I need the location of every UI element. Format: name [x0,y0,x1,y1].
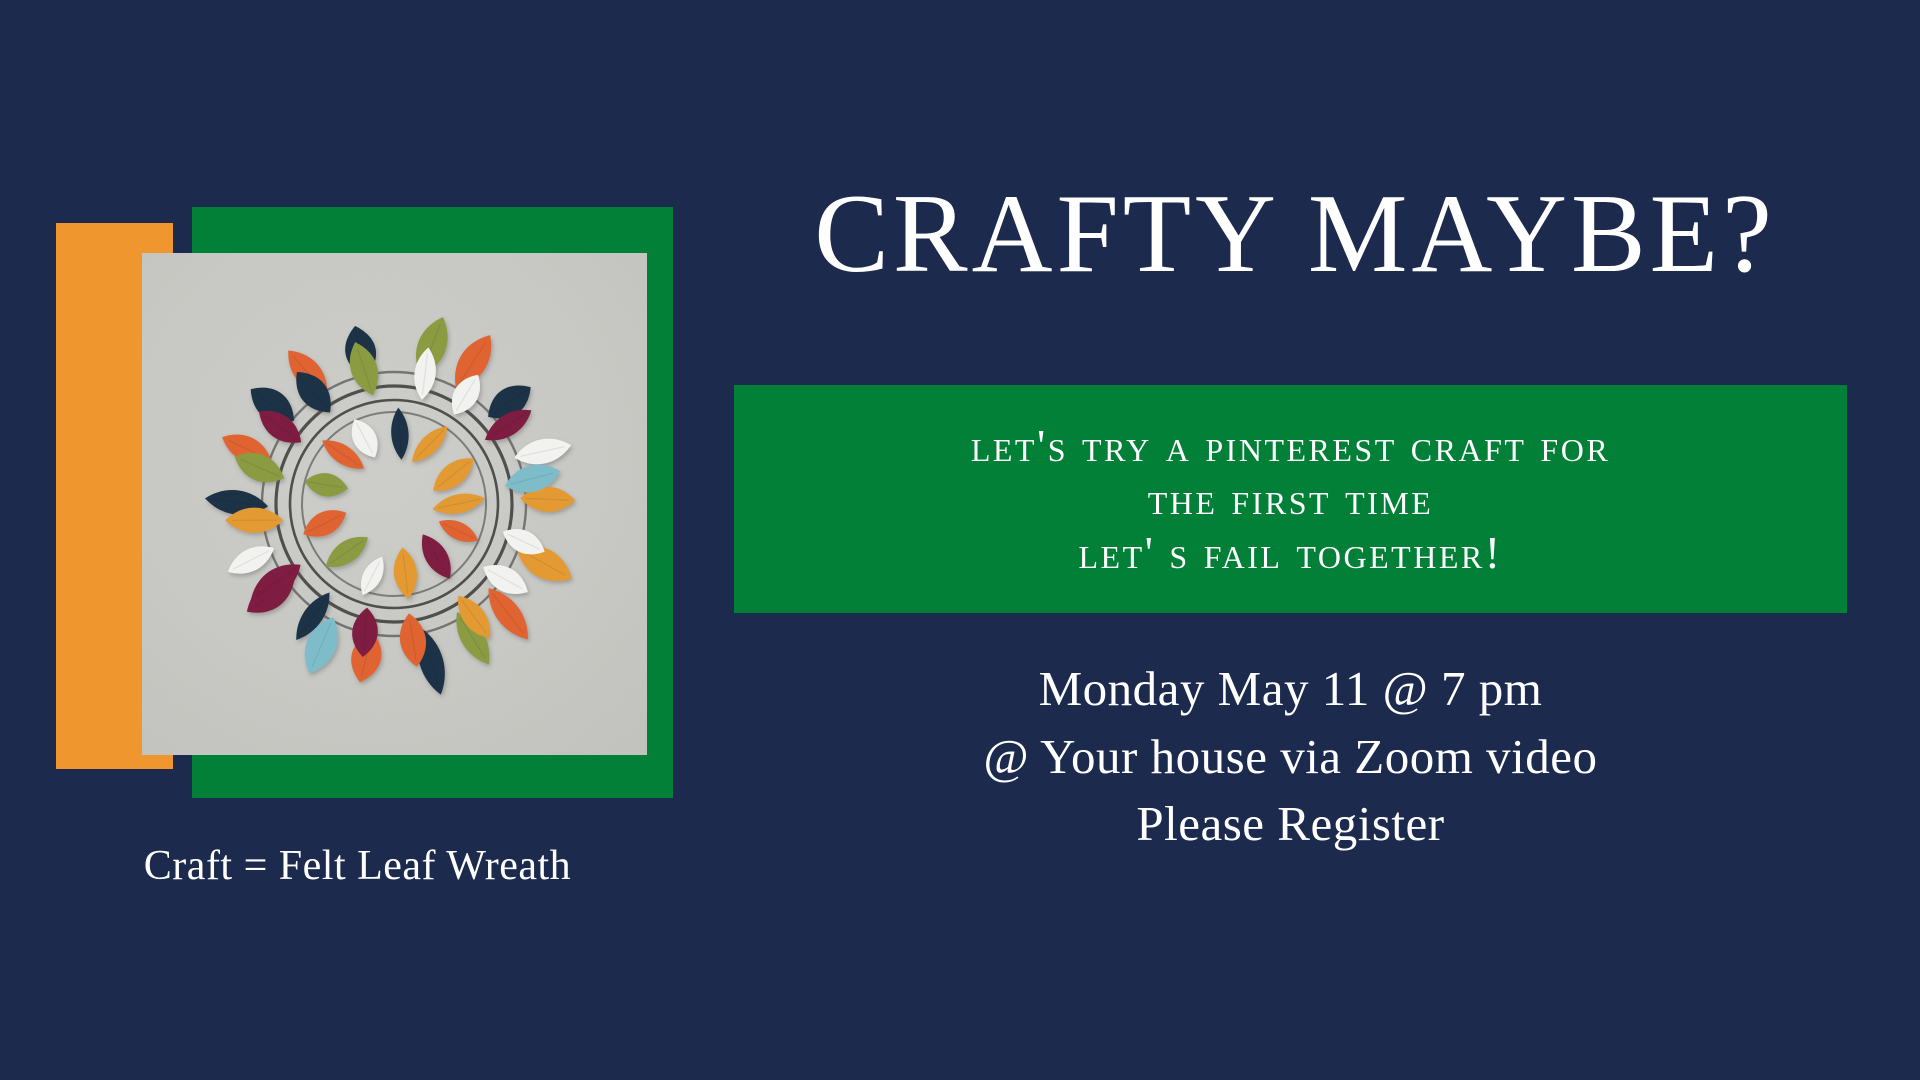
craft-caption: Craft = Felt Leaf Wreath [0,842,715,890]
event-location: @ Your house via Zoom video [734,723,1847,791]
poster-canvas: Craft = Felt Leaf Wreath CRAFTY MAYBE? L… [0,0,1920,1080]
tagline-line-2: the first time [1148,472,1434,525]
tagline-banner: Let's try a pinterest craft for the firs… [734,385,1847,613]
felt-leaf-wreath-photo [142,253,647,755]
event-details: Monday May 11 @ 7 pm @ Your house via Zo… [734,655,1847,858]
page-title: CRAFTY MAYBE? [700,178,1890,290]
event-register-note: Please Register [734,790,1847,858]
event-datetime: Monday May 11 @ 7 pm [734,655,1847,723]
tagline-line-1: Let's try a pinterest craft for [971,419,1610,472]
tagline-line-3: Let' s fail together! [1078,526,1502,579]
